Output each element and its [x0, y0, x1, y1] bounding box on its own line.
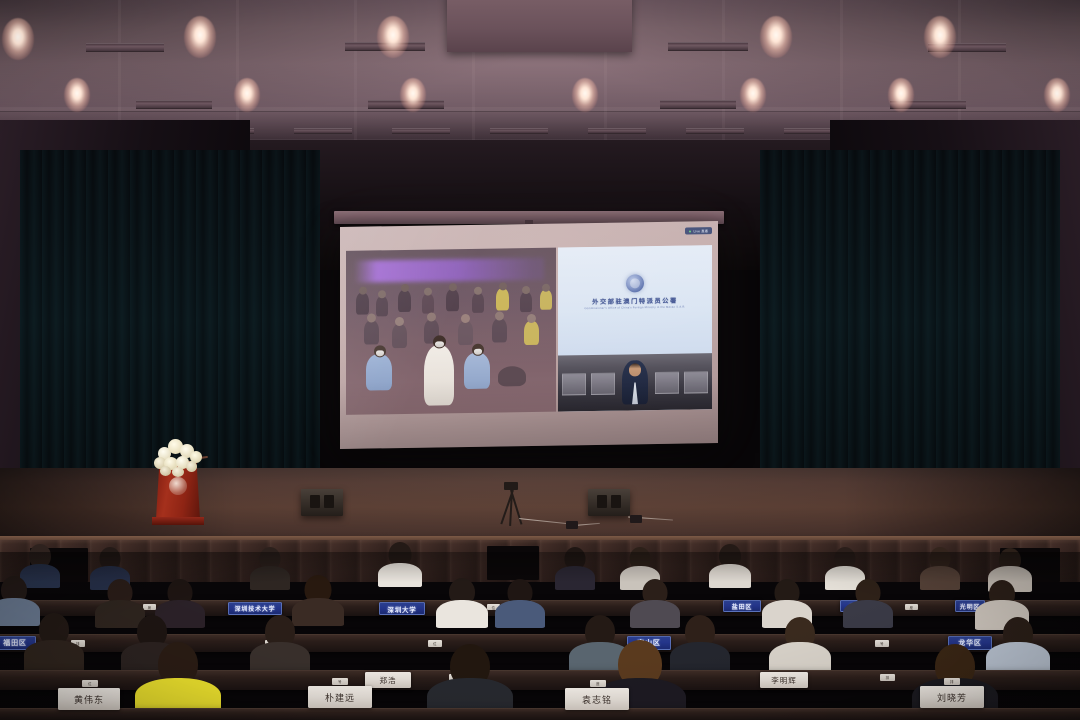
seat-tag: 号: [332, 678, 348, 685]
air-diffuser: [136, 100, 212, 109]
placard-name: 袁志铭: [565, 688, 629, 710]
ceiling-downlight: [572, 78, 598, 112]
placard-name: 刘晓芳: [920, 686, 984, 708]
air-diffuser: [294, 128, 352, 134]
ceiling-downlight: [924, 16, 956, 58]
ceiling-downlight: [888, 78, 914, 112]
speaking-podium: [152, 447, 204, 525]
seat-tag: 排: [880, 674, 895, 681]
ceiling-beam: [354, 0, 357, 152]
ceiling-downlight: [760, 16, 792, 58]
person-body: [843, 600, 893, 628]
ceiling-downlight: [64, 78, 90, 112]
stage-monitor-right: [588, 489, 630, 516]
podium-base: [152, 517, 204, 525]
ceiling-downlight: [1044, 78, 1070, 112]
seat-tag: 号: [875, 640, 889, 647]
person-body: [436, 600, 488, 628]
desk-row-4: [0, 708, 1080, 720]
cable-floor-box: [630, 515, 642, 523]
placard-institution: 深圳大学: [379, 602, 425, 615]
seat-tag: 位: [82, 680, 98, 687]
auditorium-scene: 外交部驻澳门特派员公署 Commissioner's Office of Chi…: [0, 0, 1080, 720]
air-diffuser: [668, 42, 748, 51]
live-badge-label: Live 直播: [693, 228, 708, 233]
air-diffuser: [490, 128, 548, 134]
ministry-emblem-icon: [626, 274, 644, 292]
live-status-badge: Live 直播: [685, 227, 712, 234]
ceiling-downlight: [740, 78, 766, 112]
person-body: [0, 598, 40, 626]
stage-monitor-left: [301, 489, 343, 516]
air-diffuser: [686, 128, 744, 134]
person-body: [24, 640, 84, 672]
air-diffuser: [86, 43, 164, 52]
ceiling-downlight: [234, 78, 260, 112]
seat-tag: 排: [944, 678, 960, 685]
ceiling-downlight: [2, 18, 34, 60]
person-body: [495, 600, 545, 628]
conference-desk: [558, 353, 712, 411]
desk-panel: [562, 373, 586, 395]
person-body: [250, 566, 290, 590]
person-body: [378, 563, 422, 587]
ceiling-downlight: [184, 16, 216, 58]
air-diffuser: [660, 100, 736, 109]
person-body: [555, 566, 595, 590]
desk-panel: [684, 371, 708, 393]
audience-seating: 深圳技术大学 深圳大学 盐田区 龙华区 光明区 席 位 号 座: [0, 552, 1080, 720]
ceiling-downlight: [400, 78, 426, 112]
seat-tag: 位: [428, 640, 442, 647]
camera-tripod: [500, 482, 522, 526]
placard-name: 李明辉: [760, 672, 808, 688]
flower-arrangement: [152, 435, 210, 477]
seat-tag: 座: [905, 604, 918, 610]
projection-screen: 外交部驻澳门特派员公署 Commissioner's Office of Chi…: [340, 221, 718, 449]
remote-speaker-head: [629, 363, 641, 376]
cable-floor-box: [566, 521, 578, 529]
person-body: [920, 566, 960, 590]
seat-tag: 席: [143, 604, 156, 610]
remote-speaker-feed: 外交部驻澳门特派员公署 Commissioner's Office of Chi…: [558, 245, 712, 411]
placard-name: 郑浩: [365, 672, 411, 688]
projector-soffit: [447, 0, 632, 52]
remote-stage-lighting: [354, 258, 544, 283]
live-indicator-icon: [689, 230, 691, 232]
podium-seal-icon: [169, 477, 187, 495]
desk-panel: [655, 372, 679, 394]
person-body: [630, 600, 680, 628]
air-diffuser: [392, 128, 450, 134]
presentation-slide: 外交部驻澳门特派员公署 Commissioner's Office of Chi…: [558, 245, 712, 355]
person-body: [709, 564, 751, 588]
desk-panel: [591, 373, 615, 395]
person-body: [292, 598, 344, 626]
ceiling-downlight: [377, 16, 409, 58]
placard-institution: 盐田区: [723, 600, 761, 612]
remote-audience-feed: [346, 248, 556, 415]
placard-name: 朴建远: [308, 686, 372, 708]
air-diffuser: [588, 128, 646, 134]
seat-tag: 座: [590, 680, 606, 687]
placard-name: 黄伟东: [58, 688, 120, 710]
placard-institution: 深圳技术大学: [228, 602, 282, 615]
